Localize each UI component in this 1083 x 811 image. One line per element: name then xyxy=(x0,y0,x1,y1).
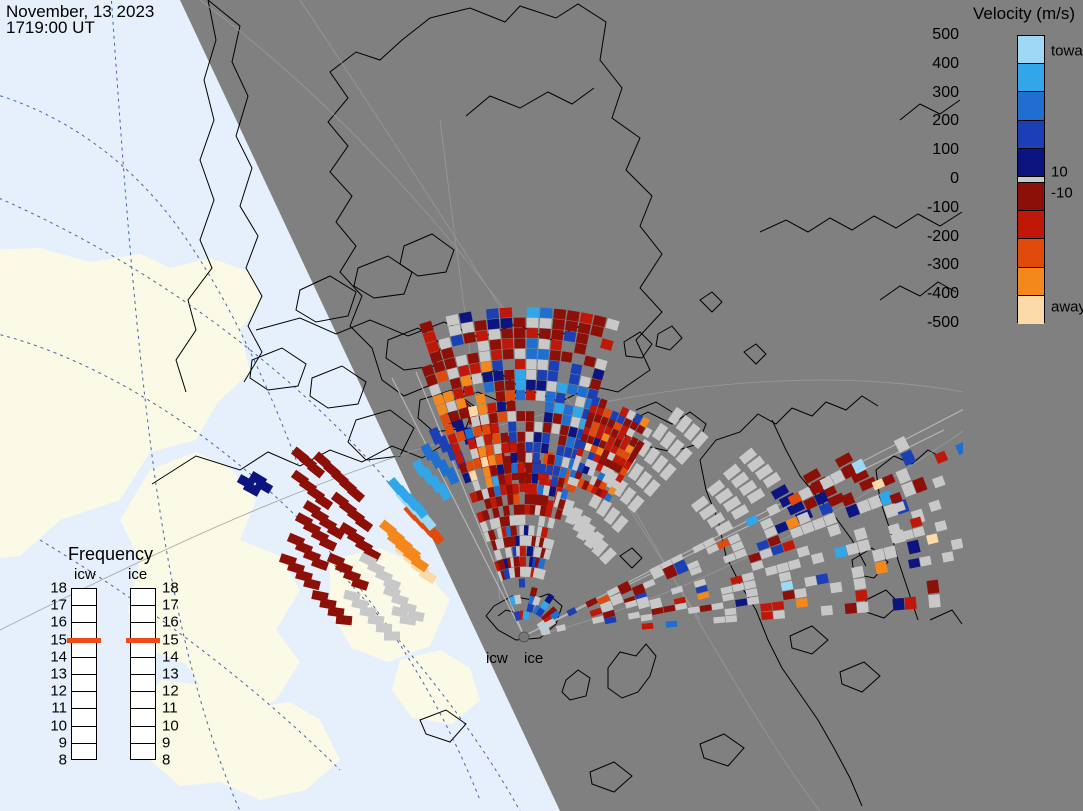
frequency-cell xyxy=(72,727,96,744)
velocity-cell xyxy=(518,442,525,452)
velocity-cell xyxy=(527,318,539,328)
colorbar-side-labels: toward10-10away xyxy=(1047,0,1083,811)
velocity-cell xyxy=(508,422,516,432)
frequency-cell xyxy=(131,606,155,623)
frequency-tick-left-10: 10 xyxy=(45,717,67,734)
colorbar-band-6 xyxy=(1018,183,1044,211)
velocity-cell xyxy=(504,370,514,380)
velocity-cell xyxy=(500,432,508,443)
velocity-cell xyxy=(484,382,495,393)
velocity-cell xyxy=(642,623,654,630)
velocity-cell xyxy=(514,338,525,348)
velocity-cell xyxy=(546,391,556,402)
velocity-cell xyxy=(471,373,482,384)
velocity-cell xyxy=(519,515,525,525)
velocity-cell xyxy=(519,578,525,587)
velocity-cell xyxy=(551,329,563,340)
velocity-cell xyxy=(539,464,546,474)
velocity-cell xyxy=(495,454,503,465)
frequency-tick-right-13: 13 xyxy=(162,666,179,683)
velocity-cell xyxy=(497,464,505,475)
superdarn-velocity-map: November, 13 2023 1719:00 UT Velocity (m… xyxy=(0,0,1083,811)
frequency-marker-ice xyxy=(126,638,160,643)
velocity-cell xyxy=(517,432,525,442)
velocity-cell xyxy=(569,374,581,386)
velocity-cell xyxy=(490,423,499,434)
velocity-cell xyxy=(503,349,514,359)
frequency-tick-right-8: 8 xyxy=(162,752,170,769)
velocity-cell xyxy=(541,443,549,454)
velocity-cell xyxy=(857,602,869,614)
velocity-cell xyxy=(461,322,474,334)
frequency-column-label-icw: icw xyxy=(74,566,96,583)
velocity-cell xyxy=(553,413,563,424)
velocity-cell xyxy=(515,370,525,380)
velocity-cell xyxy=(479,351,491,362)
velocity-cell xyxy=(537,370,547,381)
velocity-cell xyxy=(500,318,512,329)
velocity-cell xyxy=(794,588,807,598)
frequency-cell xyxy=(131,727,155,744)
colorbar-band-3 xyxy=(1018,121,1044,149)
velocity-cell xyxy=(507,495,514,505)
colorbar-tick--200: -200 xyxy=(927,228,959,246)
colorbar-band-8 xyxy=(1018,239,1044,267)
velocity-cell xyxy=(538,349,549,360)
colorbar-tick--400: -400 xyxy=(927,285,959,303)
velocity-cell xyxy=(510,526,517,536)
colorbar-tick-300: 300 xyxy=(932,84,959,102)
velocity-cell xyxy=(532,474,539,484)
colorbar-tick--500: -500 xyxy=(927,314,959,332)
velocity-cell xyxy=(526,442,533,452)
frequency-tick-right-17: 17 xyxy=(162,597,179,614)
frequency-cell xyxy=(72,744,96,761)
velocity-cell xyxy=(526,359,536,369)
velocity-cell xyxy=(566,310,579,322)
velocity-cell xyxy=(515,359,525,369)
colorbar-band-10 xyxy=(1018,296,1044,324)
velocity-cell xyxy=(513,494,520,504)
velocity-cell xyxy=(505,380,515,390)
colorbar-pos-threshold-label: 10 xyxy=(1051,164,1068,181)
velocity-cell xyxy=(928,594,940,608)
velocity-cell xyxy=(567,384,578,395)
velocity-cell xyxy=(527,546,534,556)
velocity-cell xyxy=(520,546,526,556)
velocity-cell xyxy=(477,404,487,415)
velocity-cell xyxy=(539,328,551,339)
velocity-cell xyxy=(528,525,535,535)
velocity-cell xyxy=(761,611,773,620)
frequency-tick-right-12: 12 xyxy=(162,683,179,700)
frequency-tick-left-12: 12 xyxy=(45,683,67,700)
velocity-cell xyxy=(516,390,525,400)
velocity-cell xyxy=(574,343,587,355)
velocity-cell xyxy=(892,598,904,611)
velocity-cell xyxy=(830,582,843,594)
velocity-cell xyxy=(551,423,560,434)
colorbar-away-label: away xyxy=(1051,299,1083,316)
velocity-cell xyxy=(497,401,507,412)
colorbar-neg-threshold-label: -10 xyxy=(1051,185,1073,202)
velocity-cell xyxy=(554,403,564,414)
velocity-cell xyxy=(547,381,557,392)
frequency-cell xyxy=(72,606,96,623)
velocity-cell xyxy=(509,432,517,442)
velocity-cell xyxy=(506,484,513,494)
velocity-cell xyxy=(713,616,725,623)
frequency-cell xyxy=(131,641,155,658)
velocity-cell xyxy=(494,381,504,392)
colorbar-tick-labels: 5004003002001000-100-200-300-400-500 xyxy=(963,0,1015,811)
frequency-cell xyxy=(72,589,96,606)
colorbar-band-7 xyxy=(1018,211,1044,239)
velocity-cell xyxy=(518,453,525,463)
velocity-cell xyxy=(821,605,833,616)
velocity-cell xyxy=(853,578,866,590)
frequency-tick-left-9: 9 xyxy=(45,734,67,751)
velocity-cell xyxy=(482,371,493,382)
colorbar-tick--100: -100 xyxy=(927,199,959,217)
velocity-cell xyxy=(506,390,516,400)
frequency-legend: Frequency icw ice 1818171716161515141413… xyxy=(40,544,220,794)
frequency-tick-left-15: 15 xyxy=(45,631,67,648)
frequency-cell xyxy=(72,675,96,692)
radar-site-marker[interactable] xyxy=(519,632,529,642)
velocity-cell xyxy=(517,411,525,421)
velocity-cell xyxy=(536,380,546,390)
velocity-cell xyxy=(534,422,543,432)
velocity-cell xyxy=(760,603,772,612)
velocity-cell xyxy=(526,338,537,348)
velocity-cell xyxy=(520,556,526,566)
frequency-cell xyxy=(72,692,96,709)
frequency-cell xyxy=(131,692,155,709)
velocity-cell xyxy=(481,361,492,372)
velocity-cell xyxy=(469,363,481,375)
velocity-cell xyxy=(476,330,489,341)
velocity-cell xyxy=(570,363,582,375)
velocity-cell xyxy=(512,484,519,494)
velocity-cell xyxy=(665,621,677,628)
colorbar-toward-label: toward xyxy=(1051,43,1083,60)
velocity-cell xyxy=(525,453,532,463)
velocity-cell xyxy=(502,339,513,349)
frequency-marker-icw xyxy=(67,638,101,643)
frequency-cell xyxy=(72,641,96,658)
radar-label-icw: icw xyxy=(486,650,508,667)
velocity-cell xyxy=(519,473,525,483)
frequency-column-label-ice: ice xyxy=(128,566,147,583)
velocity-cell xyxy=(480,414,490,425)
velocity-cell xyxy=(537,484,544,494)
velocity-cell xyxy=(875,561,888,574)
velocity-cell xyxy=(525,494,531,504)
frequency-tick-left-18: 18 xyxy=(45,580,67,597)
velocity-cell xyxy=(492,433,501,444)
velocity-cell xyxy=(514,328,525,338)
colorbar-tick-0: 0 xyxy=(950,170,959,188)
velocity-cell xyxy=(505,474,512,484)
frequency-cell xyxy=(131,658,155,675)
velocity-cell xyxy=(514,318,526,328)
frequency-cell xyxy=(131,744,155,761)
velocity-cell xyxy=(518,463,524,473)
frequency-cell xyxy=(72,709,96,726)
velocity-cell xyxy=(526,328,538,338)
velocity-cell xyxy=(491,350,502,361)
frequency-tick-left-13: 13 xyxy=(45,666,67,683)
velocity-cell xyxy=(527,307,539,317)
velocity-cell xyxy=(533,442,541,452)
frequency-tick-right-10: 10 xyxy=(162,717,179,734)
velocity-cell xyxy=(489,413,499,424)
colorbar-tick-200: 200 xyxy=(932,112,959,130)
velocity-cell xyxy=(474,320,487,331)
velocity-cell xyxy=(467,353,479,365)
frequency-tick-right-15: 15 xyxy=(162,631,179,648)
velocity-cell xyxy=(504,464,511,474)
velocity-cell xyxy=(526,349,537,359)
velocity-cell xyxy=(796,598,808,608)
velocity-cell xyxy=(926,580,939,594)
colorbar-tick-100: 100 xyxy=(932,141,959,159)
velocity-cell xyxy=(545,402,555,413)
velocity-cell xyxy=(553,309,566,320)
velocity-cell xyxy=(555,392,565,403)
frequency-title: Frequency xyxy=(68,544,153,565)
velocity-cell xyxy=(486,308,499,319)
radar-label-ice: ice xyxy=(524,650,543,667)
velocity-cell xyxy=(488,329,500,340)
colorbar-band-2 xyxy=(1018,92,1044,120)
velocity-cell xyxy=(510,453,517,463)
velocity-cell xyxy=(942,551,954,562)
velocity-cell xyxy=(547,371,558,382)
velocity-cell xyxy=(526,411,535,421)
velocity-cell xyxy=(526,421,534,431)
velocity-cell xyxy=(463,332,476,344)
frequency-tick-right-9: 9 xyxy=(162,734,170,751)
colorbar-band-1 xyxy=(1018,64,1044,92)
frequency-tick-left-17: 17 xyxy=(45,597,67,614)
velocity-cell xyxy=(511,463,518,473)
velocity-cell xyxy=(496,391,506,402)
velocity-cell xyxy=(557,382,568,393)
colorbar-band-4 xyxy=(1018,149,1044,177)
velocity-cell xyxy=(500,307,513,318)
velocity-cell xyxy=(507,411,516,421)
velocity-cell xyxy=(724,608,736,616)
velocity-cell xyxy=(544,412,553,423)
velocity-cell xyxy=(542,433,551,444)
velocity-cell xyxy=(487,402,497,413)
velocity-cell xyxy=(477,341,489,352)
frequency-tick-right-18: 18 xyxy=(162,580,179,597)
velocity-colorbar: Velocity (m/s) 5004003002001000-100-200-… xyxy=(963,0,1083,811)
velocity-cell xyxy=(532,463,539,473)
frequency-scale-icw[interactable] xyxy=(71,588,97,760)
velocity-cell xyxy=(526,380,536,390)
velocity-cell xyxy=(552,319,565,330)
velocity-cell xyxy=(526,370,536,380)
frequency-tick-left-8: 8 xyxy=(45,752,67,769)
velocity-cell xyxy=(501,328,513,338)
frequency-cell xyxy=(131,675,155,692)
velocity-cell xyxy=(561,351,573,362)
velocity-cell xyxy=(550,340,562,351)
velocity-cell xyxy=(525,463,532,473)
velocity-cell xyxy=(525,484,531,494)
velocity-cell xyxy=(507,401,516,411)
time-label: 1719:00 UT xyxy=(6,19,95,36)
velocity-cell xyxy=(543,422,552,433)
frequency-cell xyxy=(131,709,155,726)
velocity-cell xyxy=(534,432,542,442)
velocity-cell xyxy=(548,360,559,371)
velocity-cell xyxy=(498,412,507,423)
velocity-cell xyxy=(564,331,577,342)
velocity-cell xyxy=(855,590,868,602)
velocity-cell xyxy=(487,319,500,330)
velocity-cell xyxy=(538,339,550,350)
velocity-cell xyxy=(525,473,531,483)
velocity-cell xyxy=(526,390,535,400)
velocity-cell xyxy=(510,442,518,452)
velocity-cell xyxy=(494,444,502,455)
frequency-tick-right-11: 11 xyxy=(162,700,178,717)
velocity-cell xyxy=(537,359,548,370)
velocity-cell xyxy=(845,603,857,614)
colorbar-band-0 xyxy=(1018,36,1044,64)
velocity-cell xyxy=(530,494,537,504)
velocity-cell xyxy=(536,391,546,401)
velocity-cell xyxy=(475,394,486,405)
velocity-cell xyxy=(851,566,864,579)
velocity-cell xyxy=(519,505,525,515)
colorbar-strip[interactable] xyxy=(1017,35,1045,323)
velocity-cell xyxy=(513,557,520,567)
velocity-cell xyxy=(773,610,785,619)
frequency-tick-left-16: 16 xyxy=(45,614,67,631)
velocity-cell xyxy=(565,320,578,332)
velocity-cell xyxy=(336,615,353,625)
velocity-cell xyxy=(526,432,534,442)
frequency-cell xyxy=(131,589,155,606)
velocity-cell xyxy=(782,590,795,600)
frequency-tick-right-14: 14 xyxy=(162,648,179,665)
colorbar-band-9 xyxy=(1018,268,1044,296)
colorbar-tick--300: -300 xyxy=(927,256,959,274)
frequency-scale-ice[interactable] xyxy=(130,588,156,760)
velocity-cell xyxy=(539,318,551,329)
velocity-cell xyxy=(533,453,540,463)
frequency-tick-left-14: 14 xyxy=(45,648,67,665)
velocity-cell xyxy=(904,597,916,610)
velocity-cell xyxy=(384,631,400,640)
velocity-cell xyxy=(540,308,553,319)
velocity-cell xyxy=(549,350,561,361)
velocity-cell xyxy=(502,443,510,454)
frequency-tick-left-11: 11 xyxy=(45,700,67,717)
velocity-cell xyxy=(516,380,526,390)
colorbar-tick-500: 500 xyxy=(932,26,959,44)
frequency-cell xyxy=(72,658,96,675)
velocity-cell xyxy=(772,601,784,610)
velocity-cell xyxy=(725,615,737,623)
colorbar-tick-400: 400 xyxy=(932,55,959,73)
frequency-tick-right-16: 16 xyxy=(162,614,179,631)
velocity-cell xyxy=(515,349,526,359)
velocity-cell xyxy=(490,339,502,350)
velocity-cell xyxy=(493,370,504,381)
velocity-cell xyxy=(492,360,503,371)
